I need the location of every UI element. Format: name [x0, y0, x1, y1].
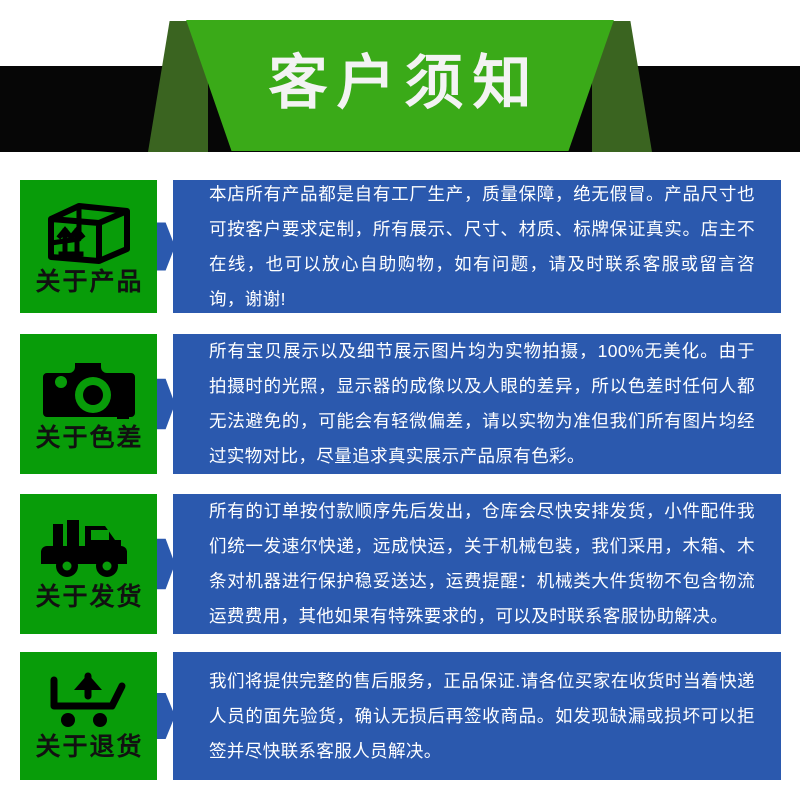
panel-product: 本店所有产品都是自有工厂生产，质量保障，绝无假冒。产品尺寸也可按客户要求定制，所…	[173, 180, 781, 313]
panel-shipping: 所有的订单按付款顺序先后发出，仓库会尽快安排发货，小件配件我们统一发速尔快递，远…	[173, 494, 781, 634]
camera-icon	[43, 357, 135, 426]
badge-product: 关于产品	[20, 180, 157, 313]
notice-row-return: 关于退货 我们将提供完整的售后服务，正品保证.请各位买家在收货时当着快递人员的面…	[0, 652, 800, 780]
notice-row-product: 关于产品 本店所有产品都是自有工厂生产，质量保障，绝无假冒。产品尺寸也可按客户要…	[0, 180, 800, 313]
badge-label-shipping: 关于发货	[33, 585, 143, 610]
badge-label-product: 关于产品	[33, 270, 143, 295]
package-box-icon	[45, 199, 133, 270]
badge-label-return: 关于退货	[33, 735, 143, 760]
return-cart-icon	[46, 672, 132, 735]
panel-text-product: 本店所有产品都是自有工厂生产，质量保障，绝无假冒。产品尺寸也可按客户要求定制，所…	[173, 177, 781, 317]
badge-return: 关于退货	[20, 652, 157, 780]
badge-shipping: 关于发货	[20, 494, 157, 634]
badge-color: 关于色差	[20, 334, 157, 474]
panel-color: 所有宝贝展示以及细节展示图片均为实物拍摄，100%无美化。由于拍摄时的光照，显示…	[173, 334, 781, 474]
panel-text-shipping: 所有的订单按付款顺序先后发出，仓库会尽快安排发货，小件配件我们统一发速尔快递，远…	[173, 494, 781, 634]
notice-row-color: 关于色差 所有宝贝展示以及细节展示图片均为实物拍摄，100%无美化。由于拍摄时的…	[0, 334, 800, 474]
ribbon-banner: 客户须知	[166, 20, 634, 151]
page-title: 客户须知	[259, 54, 540, 117]
forklift-truck-icon	[41, 518, 137, 585]
panel-text-return: 我们将提供完整的售后服务，正品保证.请各位买家在收货时当着快递人员的面先验货，确…	[173, 664, 781, 769]
header-banner: 客户须知	[0, 0, 800, 165]
panel-return: 我们将提供完整的售后服务，正品保证.请各位买家在收货时当着快递人员的面先验货，确…	[173, 652, 781, 780]
notice-row-shipping: 关于发货 所有的订单按付款顺序先后发出，仓库会尽快安排发货，小件配件我们统一发速…	[0, 494, 800, 634]
panel-text-color: 所有宝贝展示以及细节展示图片均为实物拍摄，100%无美化。由于拍摄时的光照，显示…	[173, 334, 781, 474]
badge-label-color: 关于色差	[33, 426, 143, 451]
